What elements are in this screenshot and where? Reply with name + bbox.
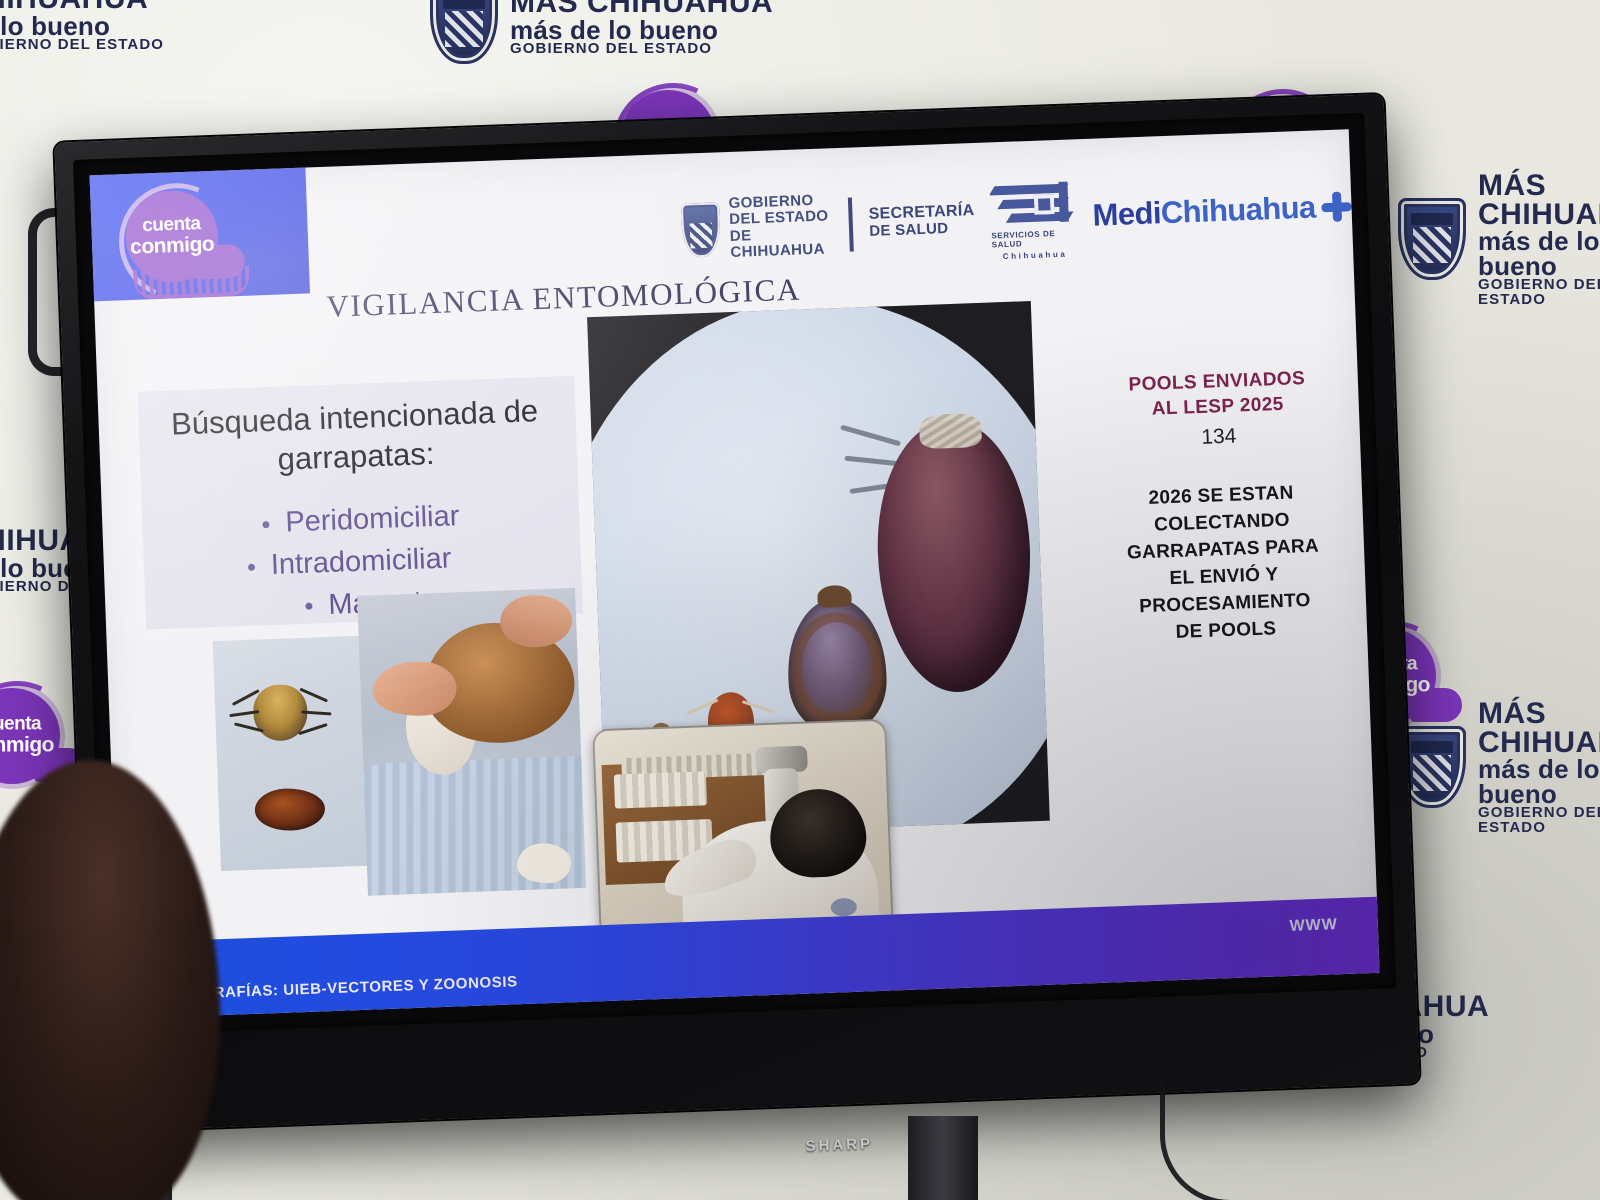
pools-body-text: 2026 SE ESTAN COLECTANDO GARRAPATAS PARA… <box>1114 480 1334 650</box>
chihuahua-state-crest-icon <box>1398 198 1466 280</box>
human-hand <box>499 594 573 649</box>
tick-and-egg-mass-photo <box>213 636 373 871</box>
bullet-dot-icon <box>248 563 255 570</box>
tick-specimen-icon <box>252 684 308 742</box>
backdrop-line3: GOBIERNO DEL ESTADO <box>0 38 164 52</box>
tick-adult-icon <box>786 597 889 735</box>
medi-part1: Medi <box>1092 195 1161 232</box>
backdrop-line2: más de lo bueno <box>510 18 773 43</box>
chihuahua-state-crest-icon <box>430 0 498 64</box>
backdrop-line2: más de lo bueno <box>1478 229 1600 278</box>
human-hand <box>372 660 458 717</box>
backdrop-line1: MÁS CHIHUAHUA <box>1478 700 1600 757</box>
tick-capitulum-icon <box>919 413 982 449</box>
slide-header-logos: GOBIERNO DEL ESTADO DE CHIHUAHUA SECRETA… <box>680 163 1353 272</box>
power-cable <box>1160 1080 1285 1200</box>
servicios-line2: Chihuahua <box>1003 250 1068 261</box>
tick-egg-mass-icon <box>254 787 325 832</box>
website-text: WWW <box>1289 916 1338 936</box>
gobierno-estado-logo: GOBIERNO DEL ESTADO DE CHIHUAHUA <box>681 192 834 262</box>
backdrop-line3: GOBIERNO DEL ESTADO <box>510 42 773 56</box>
servicios-salud-logo: SERVICIOS DE SALUD Chihuahua <box>989 173 1078 261</box>
backdrop-lockup-top-left: CHIHUAHUA de lo bueno GOBIERNO DEL ESTAD… <box>0 0 164 60</box>
television-display: cuenta conmigo GOBIERNO DEL ESTADO DE CH… <box>54 94 1419 1132</box>
backdrop-line2: de lo bueno <box>0 14 164 39</box>
medical-cross-icon <box>1321 191 1352 222</box>
press-conference-scene: MÁS CHIHUAHUA más de lo bueno GOBIERNO D… <box>0 0 1600 1200</box>
servicios-salud-mark-icon <box>989 173 1077 228</box>
logo-line2: conmigo <box>0 735 54 756</box>
tv-brand-label: SHARP <box>805 1135 873 1154</box>
chihuahua-state-crest-icon <box>681 202 721 257</box>
bullet-label: Peridomiciliar <box>285 500 460 538</box>
slide-cuenta-conmigo-logo: cuenta conmigo <box>124 189 219 284</box>
bullet-dot-icon <box>262 521 269 528</box>
gobierno-line3: DE CHIHUAHUA <box>730 225 834 261</box>
medichihuahua-logo: MediChihuahua <box>1092 188 1352 233</box>
slide-logo-line2: conmigo <box>130 234 215 258</box>
backdrop-line3: GOBIERNO DEL ESTADO <box>1478 806 1600 835</box>
logo-comb-icon <box>133 266 250 300</box>
dog-paw <box>516 842 571 884</box>
logo-divider <box>848 197 854 251</box>
secretaria-salud-logo: SECRETARÍA DE SALUD <box>868 202 975 240</box>
servicios-line1: SERVICIOS DE SALUD <box>991 228 1078 249</box>
logo-line1: cuenta <box>0 715 54 734</box>
backdrop-lockup-right-upper: MÁS CHIHUAHUA más de lo bueno GOBIERNO D… <box>1398 172 1600 307</box>
backdrop-line2: más de lo bueno <box>1478 757 1600 806</box>
specimen-tray <box>614 771 707 808</box>
pools-highlight: POOLS ENVIADOS AL LESP 2025 <box>1109 366 1325 423</box>
presentation-slide: cuenta conmigo GOBIERNO DEL ESTADO DE CH… <box>90 129 1380 1019</box>
monitor-stand-column <box>908 1116 978 1200</box>
backdrop-cuenta-conmigo-logo: cuenta conmigo <box>0 688 60 784</box>
search-heading: Búsqueda intencionada de garrapatas: <box>144 390 567 483</box>
backdrop-line1: MÁS CHIHUAHUA <box>1478 172 1600 229</box>
bullet-dot-icon <box>305 603 312 610</box>
bullet-label: Intradomiciliar <box>270 542 452 581</box>
dog-ear-inspection-photo <box>357 588 586 896</box>
pools-count: 134 <box>1112 422 1327 454</box>
secretaria-line2: DE SALUD <box>869 220 975 240</box>
medi-part2: Chihuahua <box>1160 189 1316 230</box>
tick-engorged-female-icon <box>873 417 1035 694</box>
backdrop-lockup-top-center: MÁS CHIHUAHUA más de lo bueno GOBIERNO D… <box>430 0 773 64</box>
pools-stats-panel: POOLS ENVIADOS AL LESP 2025 134 2026 SE … <box>1109 366 1333 649</box>
backdrop-line3: GOBIERNO DEL ESTADO <box>1478 278 1600 307</box>
